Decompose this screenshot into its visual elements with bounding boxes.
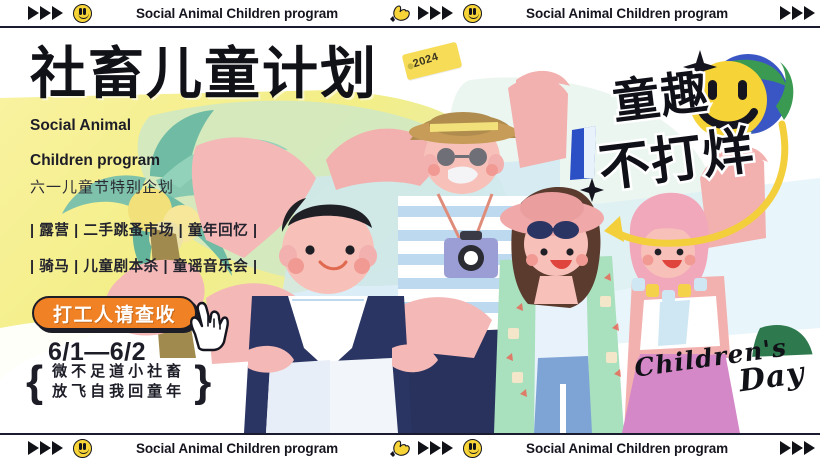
cta-button-label: 打工人请查收 (53, 300, 176, 327)
banner-text-right: Social Animal Children program (526, 6, 728, 21)
smiley-face-icon (73, 4, 92, 23)
activity-tag-list: | 露营 | 二手跳蚤市场 | 童年回忆 | | 骑马 | 儿童剧本杀 | 童谣… (30, 219, 360, 276)
bracket-left: { (26, 362, 43, 402)
triangle-right-icon (780, 441, 815, 455)
smiley-face-icon (73, 439, 92, 458)
slogan-line-2: 放飞自我回童年 (52, 382, 185, 402)
top-marquee-banner: Social Animal Children program Social An… (0, 0, 820, 28)
poster-canvas: Social Animal Children program Social An… (0, 0, 820, 461)
smiley-face-icon (463, 4, 482, 23)
slogan-text: 微不足道小社畜 放飞自我回童年 (52, 362, 185, 403)
banner-text-left: Social Animal Children program (136, 6, 338, 21)
activity-tags-row-2: | 骑马 | 儿童剧本杀 | 童谣音乐会 | (30, 255, 360, 276)
subtitle-english-line2: Children program (30, 151, 360, 172)
subtitle-english-line1: Social Animal (30, 116, 360, 137)
activity-tags-row-1: | 露营 | 二手跳蚤市场 | 童年回忆 | (30, 219, 360, 240)
marquee-strip-top: Social Animal Children program Social An… (0, 0, 820, 26)
triangle-right-icon (418, 6, 453, 20)
pointing-hand-icon (390, 438, 412, 458)
smiley-face-icon (463, 439, 482, 458)
slogan-line-1: 微不足道小社畜 (52, 362, 185, 382)
subtitle-chinese: 六一儿童节特别企划 (30, 176, 360, 197)
year-tag-label: 2024 (411, 51, 440, 70)
banner-text-right: Social Animal Children program (526, 441, 728, 456)
bracket-right: } (194, 362, 211, 402)
page-title: 社畜儿童计划 (30, 46, 360, 102)
hand-cursor-icon (186, 300, 232, 352)
bottom-marquee-banner: Social Animal Children program Social An… (0, 433, 820, 461)
banner-text-left: Social Animal Children program (136, 441, 338, 456)
triangle-right-icon (28, 441, 63, 455)
triangle-right-icon (418, 441, 453, 455)
pointing-hand-icon (390, 3, 412, 23)
cta-button[interactable]: 打工人请查收 (32, 296, 197, 330)
triangle-right-icon (780, 6, 815, 20)
triangle-right-icon (28, 6, 63, 20)
slogan-block: { 微不足道小社畜 放飞自我回童年 } (26, 362, 211, 403)
hero-text-column: 社畜儿童计划 Social Animal Children program 六一… (30, 46, 360, 291)
marquee-strip-bottom: Social Animal Children program Social An… (0, 435, 820, 461)
